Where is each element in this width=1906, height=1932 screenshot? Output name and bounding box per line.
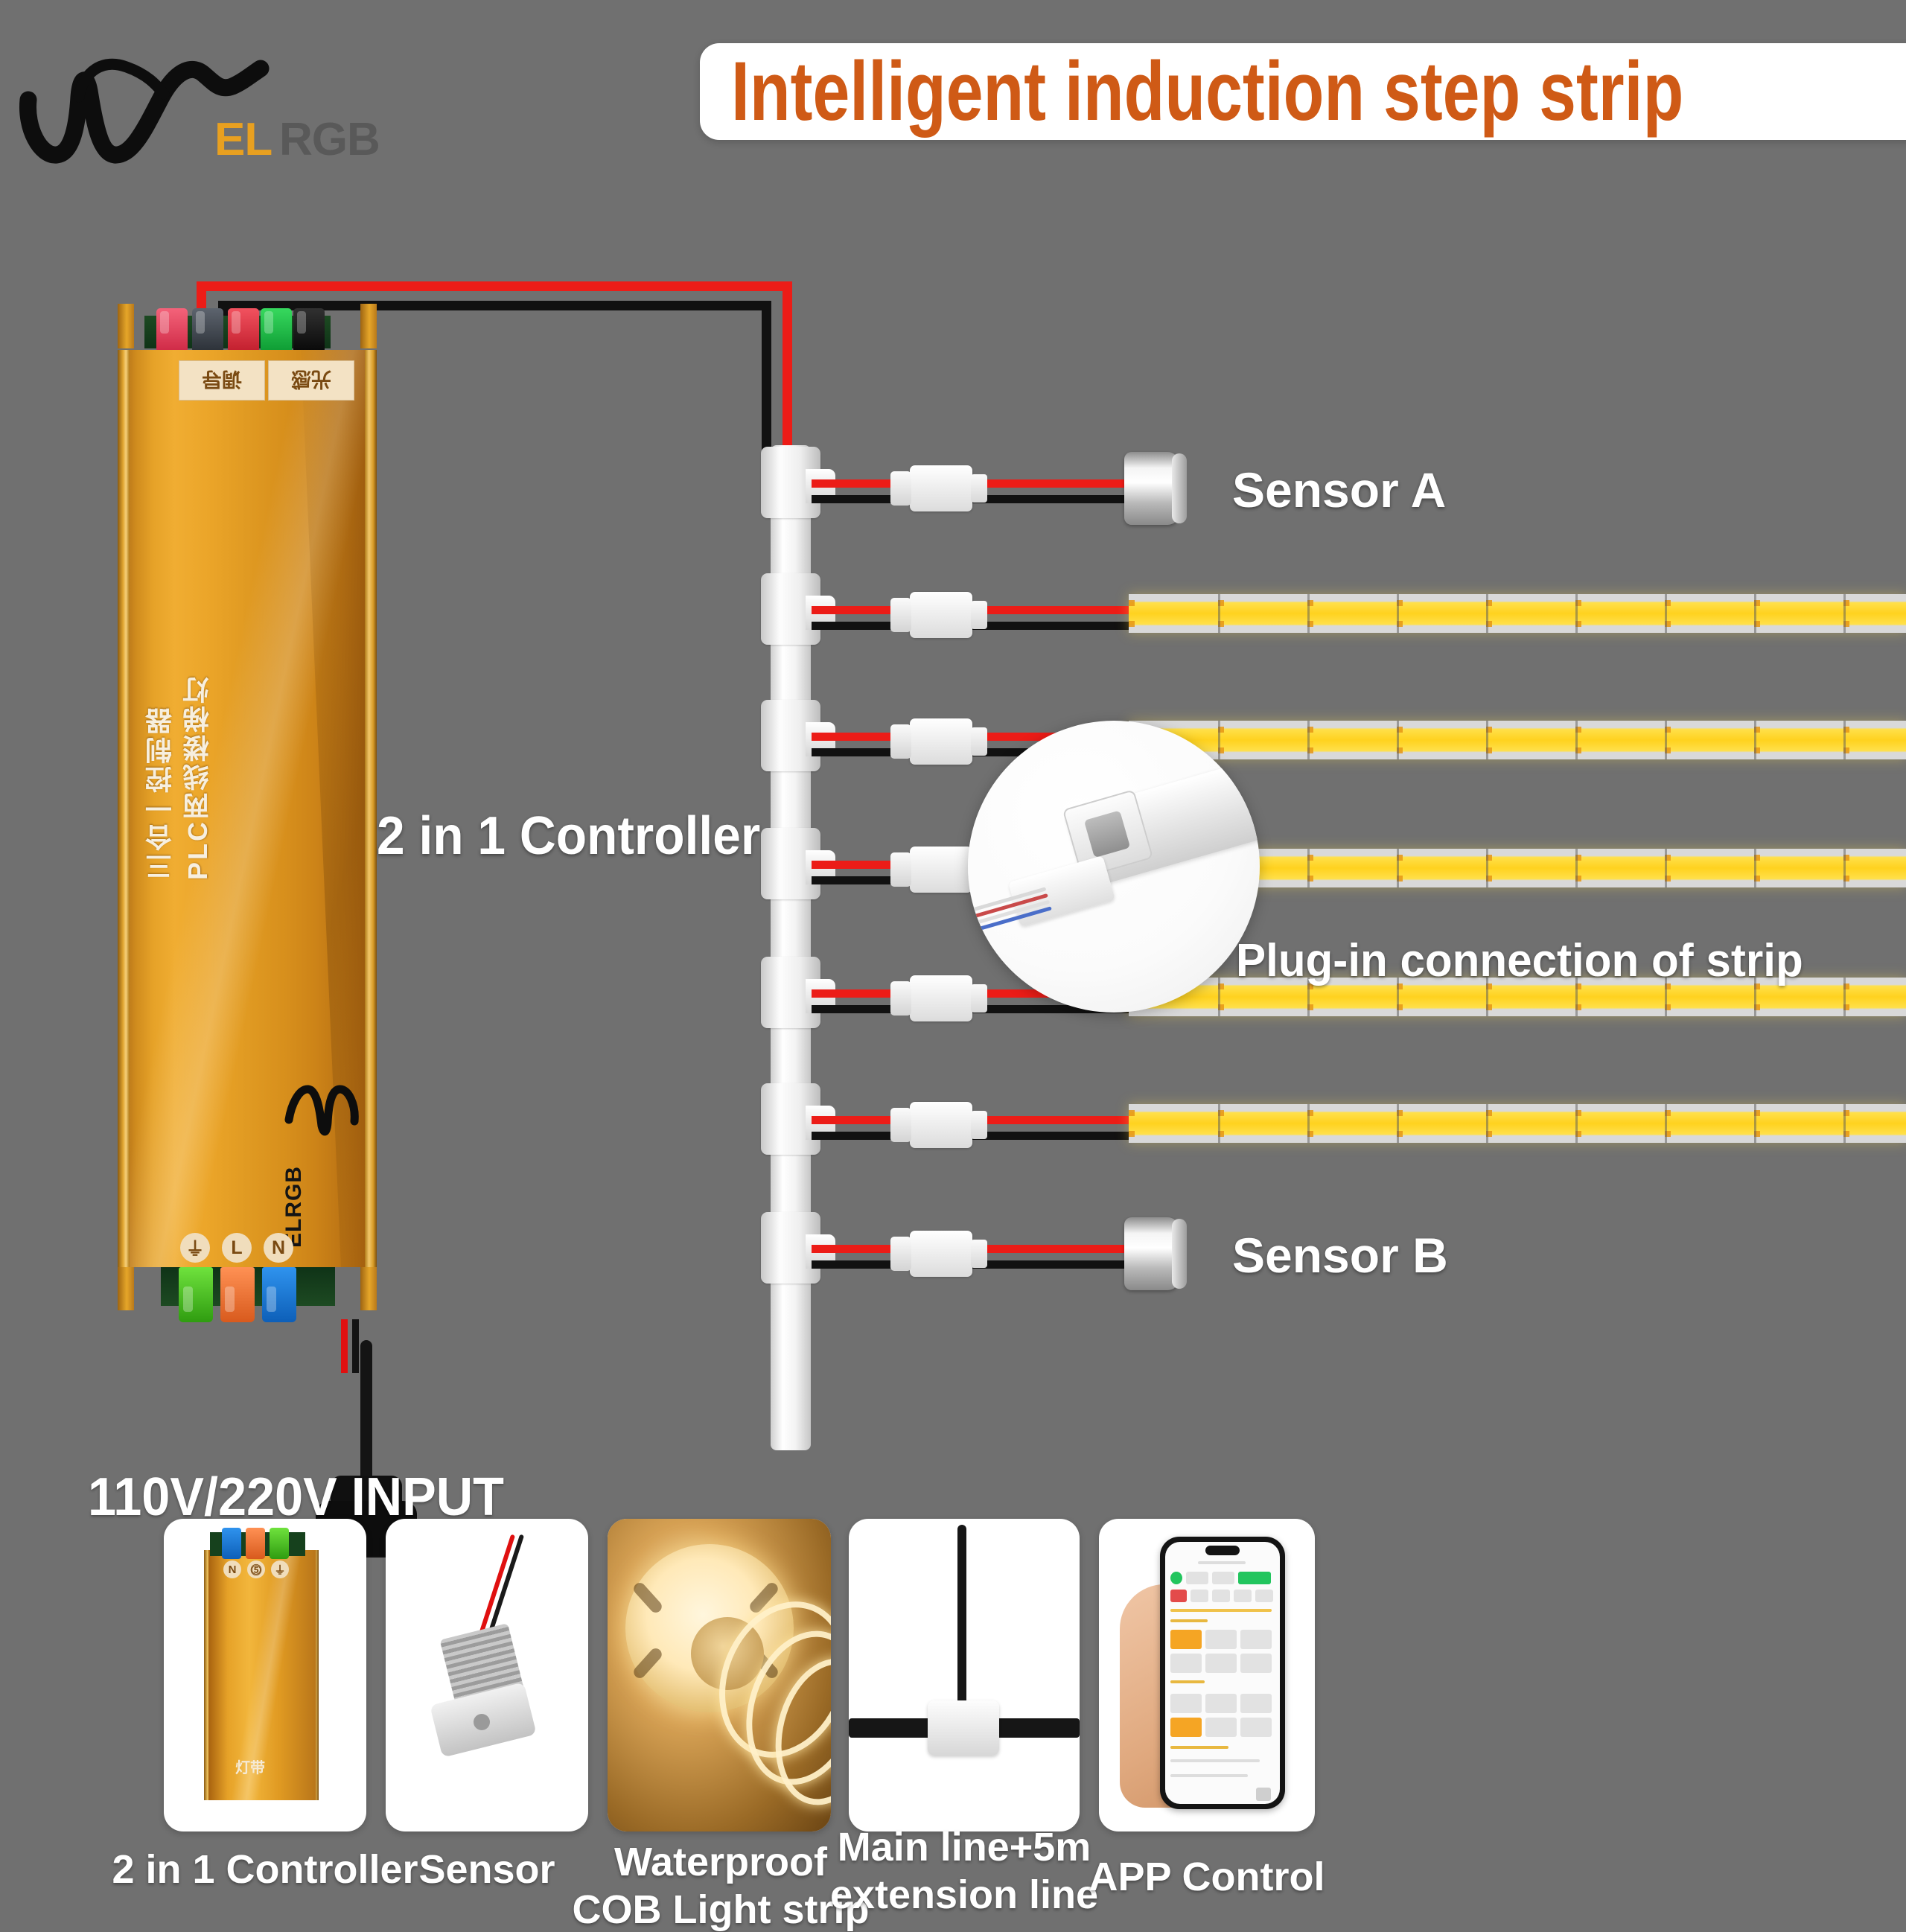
branch-4-connector <box>910 847 972 893</box>
controller-top-terminal-block <box>118 304 377 353</box>
phone-mockup <box>1160 1537 1285 1809</box>
page-title: Intelligent induction step strip <box>731 50 1683 133</box>
sensor-a-label: Sensor A <box>1232 462 1446 518</box>
branch-1-connector <box>910 465 972 511</box>
thumb-controller-mark: 灯带 <box>235 1756 265 1777</box>
main-line-vertical <box>957 1525 966 1708</box>
controller-bottom-terminal-block: ⏚ L N <box>118 1267 377 1349</box>
product-thumbnail-row: N ⓹ ⏚ 灯带 2 in 1 Controller Sensor <box>164 1519 1750 1906</box>
thumb-controller[interactable]: N ⓹ ⏚ 灯带 <box>164 1519 366 1831</box>
sensor-wire-positive <box>478 1534 515 1638</box>
controller-label-left-text: 调导 <box>202 366 242 395</box>
terminal-blue <box>262 1267 296 1322</box>
controller-device: 调导 光感 PLC两线楼梯灯 三合一控制器 ELRGB ⏚ L N <box>118 350 377 1267</box>
thumb-app-caption: APP Control <box>1047 1855 1367 1898</box>
cob-strip-2 <box>1129 594 1906 633</box>
branch-5-connector <box>910 975 972 1021</box>
power-cord-positive <box>341 1319 348 1373</box>
brand-el-text: EL <box>214 113 272 166</box>
brand-logo: EL RGB <box>15 45 357 171</box>
cob-strip-3 <box>1129 721 1906 759</box>
terminal-blue <box>222 1528 241 1559</box>
w-swoosh-icon-small <box>281 1069 363 1151</box>
sensor-b-puck <box>1124 1217 1179 1290</box>
thumb-app-control[interactable] <box>1099 1519 1315 1831</box>
controller-vertical-text-1: PLC两线楼梯灯 <box>179 575 217 880</box>
terminal-orange <box>246 1528 265 1559</box>
terminal-black <box>293 308 325 351</box>
pin-neutral: N <box>264 1233 293 1263</box>
sensor-a-puck <box>1124 452 1179 525</box>
cob-strip-6 <box>1129 1104 1906 1143</box>
phone-screen <box>1165 1542 1280 1804</box>
terminal-pink-1 <box>156 308 188 351</box>
tee-splitter <box>928 1700 999 1756</box>
callout-socket-hole <box>1084 810 1130 858</box>
main-line-left <box>849 1718 932 1738</box>
branch-3-connector <box>910 718 972 765</box>
wire-positive-horizontal <box>197 281 792 291</box>
terminal-orange <box>220 1267 255 1322</box>
terminal-green <box>179 1267 213 1322</box>
terminal-green <box>270 1528 289 1559</box>
pin-ground: ⏚ <box>180 1233 210 1263</box>
brand-rgb-text: RGB <box>279 113 380 166</box>
wire-positive-vertical-right <box>783 281 792 453</box>
thumb-cob-strip[interactable] <box>608 1519 831 1831</box>
power-cord-negative <box>352 1319 359 1373</box>
branch-2-connector <box>910 592 972 638</box>
infographic-canvas: EL RGB Intelligent induction step strip <box>0 0 1906 1906</box>
sensor-b-label: Sensor B <box>1232 1227 1448 1284</box>
thumb-pin-ground: ⏚ <box>271 1560 289 1578</box>
thumb-main-line[interactable] <box>849 1519 1080 1831</box>
thumb-sensor[interactable] <box>386 1519 588 1831</box>
controller-label-right-text: 光感 <box>291 366 331 395</box>
controller-label-left: 调导 <box>179 360 265 401</box>
terminal-darkgray <box>192 308 223 351</box>
title-banner: Intelligent induction step strip <box>700 43 1906 140</box>
pin-live: L <box>222 1233 252 1263</box>
controller-brand-mark: ELRGB <box>271 1094 353 1206</box>
main-line-right <box>996 1718 1080 1738</box>
wire-negative-vertical-right <box>762 301 771 453</box>
plug-connection-callout <box>968 721 1260 1013</box>
sensor-lens-icon <box>474 1714 490 1730</box>
thumb-pin-n: N <box>223 1560 241 1578</box>
terminal-green <box>261 308 292 351</box>
terminal-red <box>228 308 259 351</box>
controller-vertical-text-2: 三合一控制器 <box>141 575 180 880</box>
controller-label-right: 光感 <box>268 360 354 401</box>
branch-6-connector <box>910 1102 972 1148</box>
thumb-pin-l: ⓹ <box>247 1560 265 1578</box>
controller-main-label: 2 in 1 Controller <box>377 806 760 867</box>
branch-7-connector <box>910 1231 972 1277</box>
callout-label: Plug-in connection of strip <box>1236 934 1803 987</box>
